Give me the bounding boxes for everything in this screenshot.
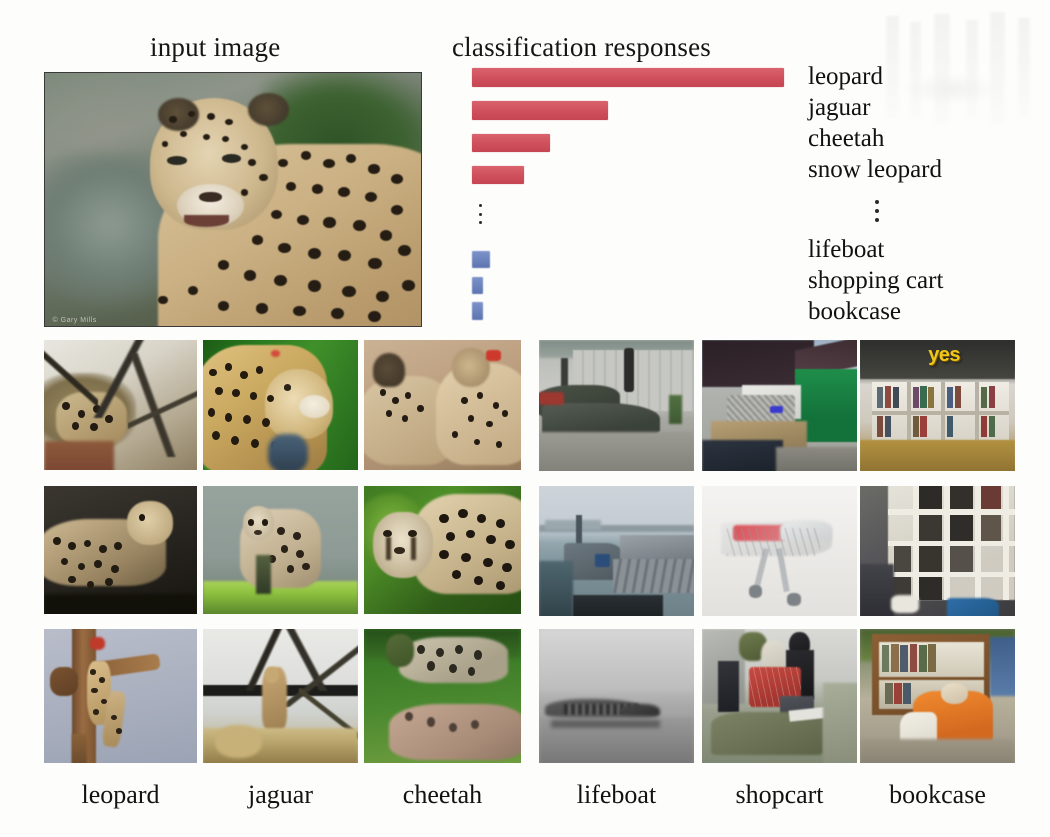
thumb-shopcart-white-bg xyxy=(702,486,857,616)
yes-overlay-text: yes xyxy=(928,344,960,367)
thumb-jaguar-in-grass xyxy=(203,340,358,470)
thumb-cheetah-portrait xyxy=(364,486,521,614)
thumb-cheetahs-pair xyxy=(364,340,521,470)
bar-snow-leopard xyxy=(472,166,524,184)
class-label-cheetah: cheetah xyxy=(808,126,884,151)
class-label-jaguar: jaguar xyxy=(808,95,870,120)
class-label-shopping-cart: shopping cart xyxy=(808,268,943,293)
thumb-leopard-lying-dark xyxy=(44,486,197,614)
caption-bookcase: bookcase xyxy=(860,780,1015,810)
caption-cheetah: cheetah xyxy=(364,780,521,810)
thumb-bookcase-yes-sign: yes xyxy=(860,340,1015,471)
bar-ellipsis-icon xyxy=(478,204,483,224)
thumb-jaguar-bare-branches xyxy=(203,629,358,763)
thumb-bookcase-person-orange xyxy=(860,629,1015,763)
thumb-lifeboat-on-trailer xyxy=(539,340,694,471)
thumb-shopcart-wrapped xyxy=(702,340,857,471)
bar-jaguar xyxy=(472,101,608,120)
figure-root: input image classification responses xyxy=(0,0,1050,837)
thumb-shopcart-people xyxy=(702,629,857,763)
bar-bookcase xyxy=(472,302,483,320)
thumb-leopard-in-tree xyxy=(44,340,197,470)
thumb-bookcase-library xyxy=(860,486,1015,616)
bar-leopard xyxy=(472,68,784,87)
bar-cheetah xyxy=(472,134,550,152)
thumb-jaguar-cub-grass xyxy=(203,486,358,614)
caption-shopcart: shopcart xyxy=(702,780,857,810)
thumb-lifeboat-harbour xyxy=(539,486,694,616)
bar-lifeboat xyxy=(472,251,490,268)
class-label-ellipsis-icon xyxy=(874,200,879,222)
caption-jaguar: jaguar xyxy=(203,780,358,810)
bar-shopping-cart xyxy=(472,277,483,294)
class-label-snow-leopard: snow leopard xyxy=(808,157,942,182)
caption-leopard: leopard xyxy=(44,780,197,810)
caption-lifeboat: lifeboat xyxy=(539,780,694,810)
thumb-lifeboat-sea-bw xyxy=(539,629,694,763)
class-label-lifeboat: lifeboat xyxy=(808,237,884,262)
class-label-bookcase: bookcase xyxy=(808,299,901,324)
thumb-leopard-tree-trunk xyxy=(44,629,197,763)
class-label-leopard: leopard xyxy=(808,64,883,89)
thumb-cheetah-running-field xyxy=(364,629,521,763)
